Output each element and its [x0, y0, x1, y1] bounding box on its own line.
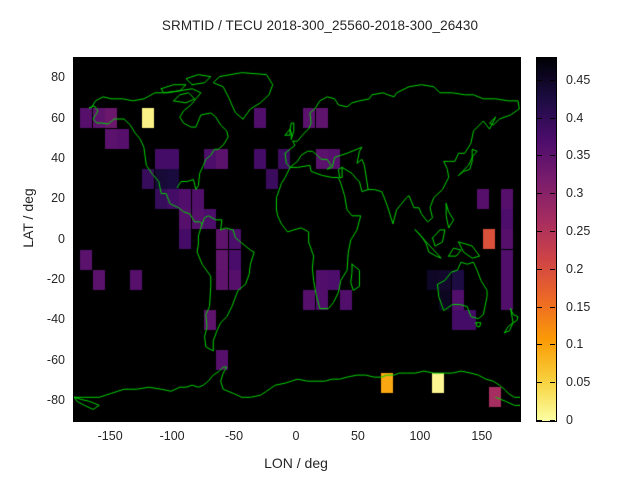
figure-root: SRMTID / TECU 2018-300_25560-2018-300_26… — [0, 0, 640, 480]
colorbar-tick-mark — [550, 231, 555, 232]
colorbar-tick-mark — [537, 307, 542, 308]
colorbar-tick-mark — [537, 80, 542, 81]
colorbar-tick-label: 0.45 — [566, 73, 590, 87]
colorbar-tick-mark — [550, 344, 555, 345]
colorbar-tick-label: 0.1 — [566, 337, 583, 351]
colorbar-tick-mark — [537, 231, 542, 232]
y-tick-label: 80 — [27, 70, 65, 84]
x-tick-label: 100 — [409, 429, 430, 443]
colorbar-tick-mark — [537, 269, 542, 270]
colorbar-tick-mark — [537, 420, 542, 421]
colorbar-tick-mark — [550, 193, 555, 194]
colorbar-tick-mark — [550, 269, 555, 270]
y-axis-label: LAT / deg — [20, 138, 36, 298]
x-tick-label: -50 — [225, 429, 243, 443]
x-tick-label: 50 — [351, 429, 365, 443]
colorbar-tick-label: 0.2 — [566, 262, 583, 276]
colorbar-tick-mark — [537, 344, 542, 345]
x-axis-label: LON / deg — [73, 455, 519, 471]
colorbar-tick-label: 0.15 — [566, 300, 590, 314]
y-tick-label: -40 — [27, 312, 65, 326]
colorbar-tick-mark — [537, 155, 542, 156]
colorbar-tick-mark — [550, 420, 555, 421]
colorbar[interactable] — [536, 57, 557, 422]
colorbar-tick-label: 0.05 — [566, 375, 590, 389]
heatmap-canvas — [74, 58, 520, 421]
x-tick-label: 0 — [293, 429, 300, 443]
colorbar-tick-mark — [550, 155, 555, 156]
y-tick-label: -80 — [27, 393, 65, 407]
page-title: SRMTID / TECU 2018-300_25560-2018-300_26… — [0, 18, 640, 33]
colorbar-gradient — [537, 58, 556, 421]
colorbar-tick-label: 0.35 — [566, 148, 590, 162]
y-tick-label: 60 — [27, 111, 65, 125]
map-plot-area[interactable] — [73, 57, 521, 422]
colorbar-tick-mark — [537, 193, 542, 194]
colorbar-tick-mark — [550, 118, 555, 119]
y-tick-label: -60 — [27, 353, 65, 367]
colorbar-tick-mark — [550, 307, 555, 308]
colorbar-tick-label: 0.3 — [566, 186, 583, 200]
x-tick-label: 150 — [471, 429, 492, 443]
colorbar-tick-mark — [550, 80, 555, 81]
colorbar-tick-label: 0 — [566, 413, 573, 427]
colorbar-tick-mark — [537, 118, 542, 119]
colorbar-tick-label: 0.25 — [566, 224, 590, 238]
colorbar-tick-mark — [550, 382, 555, 383]
x-tick-label: -100 — [160, 429, 185, 443]
colorbar-tick-label: 0.4 — [566, 111, 583, 125]
x-tick-label: -150 — [98, 429, 123, 443]
colorbar-tick-mark — [537, 382, 542, 383]
